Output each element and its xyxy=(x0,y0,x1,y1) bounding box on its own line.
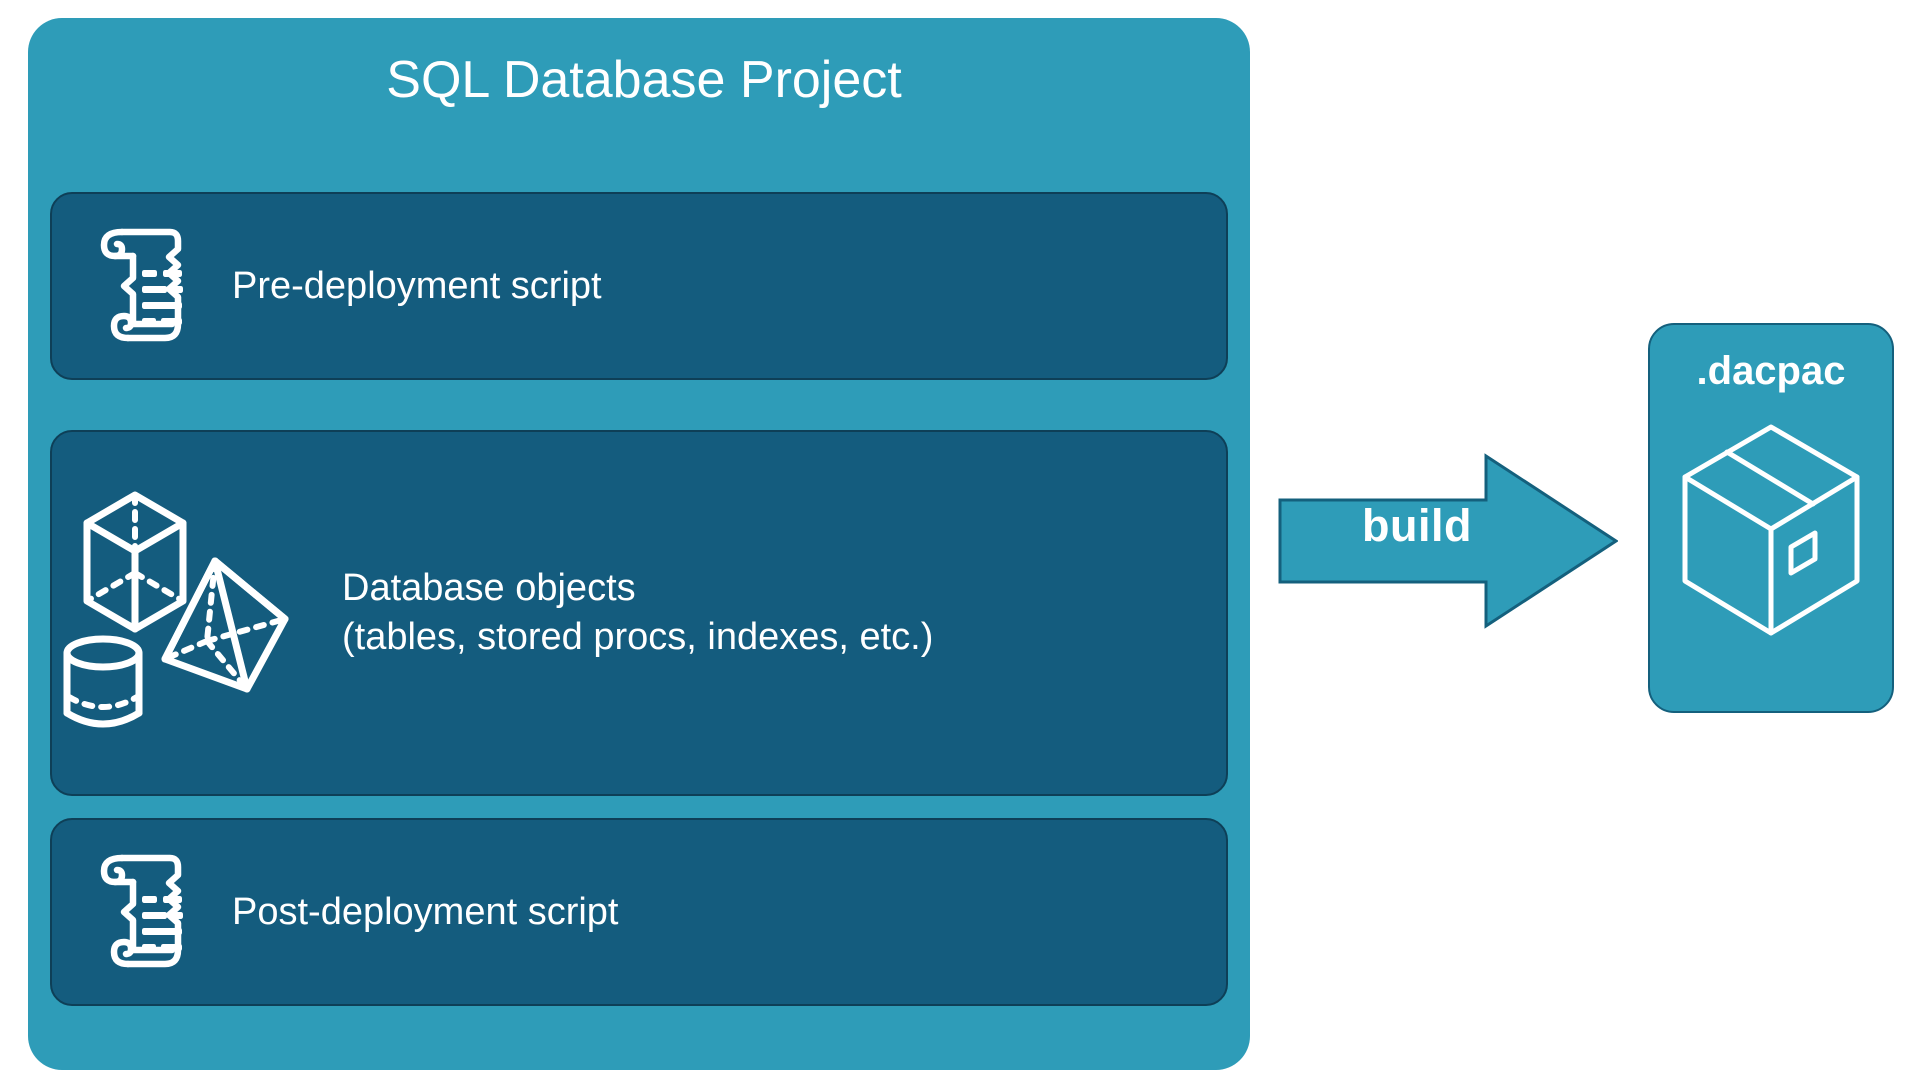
shapes-icon-group xyxy=(52,483,312,743)
sql-database-project-panel: SQL Database Project xyxy=(28,18,1250,1070)
package-box-icon xyxy=(1679,421,1863,639)
page-title: SQL Database Project xyxy=(28,52,1250,109)
cube-icon xyxy=(87,495,183,629)
card-pre-deployment-script[interactable]: Pre-deployment script xyxy=(50,192,1228,380)
scroll-icon xyxy=(88,844,196,980)
scroll-icon-wrapper-2 xyxy=(52,844,232,980)
database-shapes-icon xyxy=(57,483,307,743)
scroll-icon-wrapper xyxy=(52,218,232,354)
card-label-pre-deployment: Pre-deployment script xyxy=(232,262,602,311)
card-database-objects[interactable]: Database objects (tables, stored procs, … xyxy=(50,430,1228,796)
card-label-post-deployment: Post-deployment script xyxy=(232,888,619,937)
cylinder-icon xyxy=(67,639,139,724)
build-arrow-label: build xyxy=(1322,500,1512,552)
card-post-deployment-script[interactable]: Post-deployment script xyxy=(50,818,1228,1006)
scroll-icon xyxy=(88,218,196,354)
card-label-database-objects: Database objects (tables, stored procs, … xyxy=(342,564,933,661)
dacpac-output-card[interactable]: .dacpac xyxy=(1648,323,1894,713)
dacpac-label: .dacpac xyxy=(1650,349,1892,394)
